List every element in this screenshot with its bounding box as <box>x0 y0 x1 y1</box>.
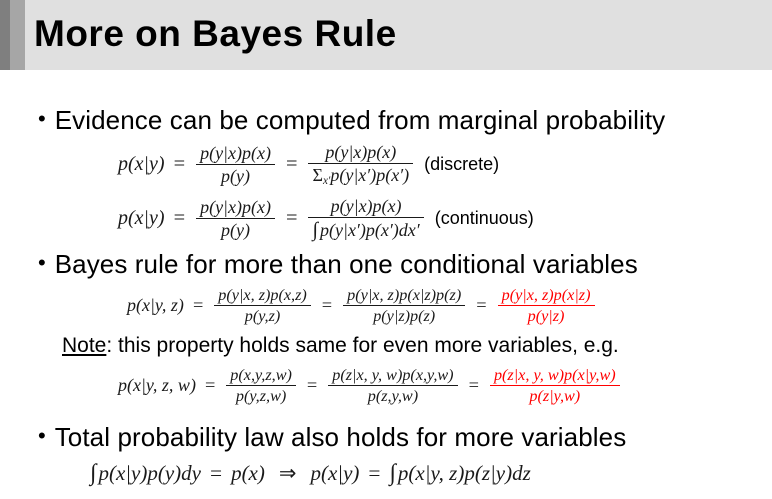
bullet-item-bayes-rule: • Bayes rule for more than one condition… <box>38 249 638 279</box>
bullet-label: Evidence can be computed from marginal p… <box>55 105 666 135</box>
note-label: Note <box>62 334 106 357</box>
eq1-frac2-den-rest: p(y|x′)p(x′) <box>330 165 409 185</box>
eq2-tag: (continuous) <box>435 208 534 229</box>
bullet-item-total-probability: • Total probability law also holds for m… <box>38 422 626 452</box>
eq1-fraction-2: p(y|x)p(x) Σx′p(y|x′)p(x′) <box>308 142 413 188</box>
eq4-frac2-denominator: p(z,y,w) <box>328 385 457 405</box>
equation-bayes-three-conditionals: p(x|y, z, w) = p(x,y,z,w) p(y,z,w) = p(z… <box>118 366 622 405</box>
eq4-equals-3: = <box>469 375 479 396</box>
eq2-frac1-denominator: p(y) <box>196 218 275 240</box>
eq2-frac2-numerator: p(y|x)p(x) <box>327 196 406 217</box>
equation-bayes-two-conditionals: p(x|y, z) = p(y|x, z)p(x,z) p(y,z) = p(y… <box>127 286 597 325</box>
eq5-part-3: p(x|y) <box>310 461 359 486</box>
eq4-frac1-numerator: p(x,y,z,w) <box>226 366 296 385</box>
eq5-part-4: p(x|y, z)p(z|y)dz <box>398 461 531 486</box>
eq4-fraction-2: p(z|x, y, w)p(x,y,w) p(z,y,w) <box>328 366 457 405</box>
eq3-fraction-3-highlighted: p(y|x, z)p(x|z) p(y|z) <box>498 286 595 325</box>
eq3-fraction-2: p(y|x, z)p(x|z)p(z) p(y|z)p(z) <box>343 286 465 325</box>
bullet-item-evidence: • Evidence can be computed from marginal… <box>38 105 665 135</box>
bullet-label: Total probability law also holds for mor… <box>55 422 627 452</box>
bullet-label: Bayes rule for more than one conditional… <box>55 249 638 279</box>
eq1-frac2-denominator: Σx′p(y|x′)p(x′) <box>308 163 413 188</box>
eq3-frac1-numerator: p(y|x, z)p(x,z) <box>214 286 311 305</box>
eq3-fraction-1: p(y|x, z)p(x,z) p(y,z) <box>214 286 311 325</box>
eq2-fraction-1: p(y|x)p(x) p(y) <box>196 197 275 240</box>
bullet-marker-icon: • <box>38 252 46 274</box>
eq4-fraction-1: p(x,y,z,w) p(y,z,w) <box>226 366 296 405</box>
eq1-lhs: p(x|y) <box>118 153 165 176</box>
eq3-frac3-denominator: p(y|z) <box>498 305 595 325</box>
eq3-frac2-denominator: p(y|z)p(z) <box>343 305 465 325</box>
eq5-part-1: p(x|y)p(y)dy <box>98 461 201 486</box>
eq3-frac3-numerator: p(y|x, z)p(x|z) <box>498 286 595 305</box>
equation-bayes-continuous: p(x|y) = p(y|x)p(x) p(y) = p(y|x)p(x) ∫p… <box>118 196 534 242</box>
eq4-equals: = <box>205 375 215 396</box>
eq3-equals-2: = <box>322 295 332 316</box>
eq5-equals: = <box>210 461 222 486</box>
eq3-frac1-denominator: p(y,z) <box>214 305 311 325</box>
equation-bayes-discrete: p(x|y) = p(y|x)p(x) p(y) = p(y|x)p(x) Σx… <box>118 142 499 188</box>
bullet-marker-icon: • <box>38 108 46 130</box>
eq2-frac2-denominator: ∫p(y|x′)p(x′)dx′ <box>308 217 423 242</box>
eq4-frac3-denominator: p(z|y,w) <box>490 385 620 405</box>
eq4-equals-2: = <box>307 375 317 396</box>
eq1-equals-2: = <box>286 153 298 176</box>
eq2-frac1-numerator: p(y|x)p(x) <box>196 197 275 218</box>
eq2-fraction-2: p(y|x)p(x) ∫p(y|x′)p(x′)dx′ <box>308 196 423 242</box>
note-line: Note: this property holds same for even … <box>62 334 619 358</box>
eq2-equals: = <box>174 207 186 230</box>
eq4-lhs: p(x|y, z, w) <box>118 375 196 396</box>
eq3-lhs: p(x|y, z) <box>127 295 184 316</box>
eq2-lhs: p(x|y) <box>118 207 165 230</box>
eq3-frac2-numerator: p(y|x, z)p(x|z)p(z) <box>343 286 465 305</box>
eq1-tag: (discrete) <box>424 154 499 175</box>
eq4-fraction-3-highlighted: p(z|x, y, w)p(x|y,w) p(z|y,w) <box>490 366 620 405</box>
eq1-equals: = <box>174 153 186 176</box>
eq1-frac1-denominator: p(y) <box>196 164 275 186</box>
eq5-equals-2: = <box>368 461 380 486</box>
bullet-marker-icon: • <box>38 425 46 447</box>
eq3-equals-3: = <box>476 295 486 316</box>
integral-icon: ∫ <box>312 219 320 241</box>
eq4-frac2-numerator: p(z|x, y, w)p(x,y,w) <box>328 366 457 385</box>
slide-title-band: More on Bayes Rule <box>0 0 772 70</box>
equation-total-probability: ∫ p(x|y)p(y)dy = p(x) ⇒ p(x|y) = ∫ p(x|y… <box>90 460 531 487</box>
implies-icon: ⇒ <box>279 461 297 486</box>
eq1-frac2-numerator: p(y|x)p(x) <box>321 142 400 163</box>
eq5-part-2: p(x) <box>231 461 265 486</box>
eq4-frac3-numerator: p(z|x, y, w)p(x|y,w) <box>490 366 620 385</box>
note-text: : this property holds same for even more… <box>106 334 618 357</box>
eq2-frac2-den-rest: p(y|x′)p(x′)dx′ <box>320 220 420 240</box>
accent-bar-light <box>10 0 25 70</box>
eq1-fraction-1: p(y|x)p(x) p(y) <box>196 143 275 186</box>
eq2-equals-2: = <box>286 207 298 230</box>
eq1-frac1-numerator: p(y|x)p(x) <box>196 143 275 164</box>
page-title: More on Bayes Rule <box>34 9 397 59</box>
accent-bar-dark <box>0 0 10 70</box>
slide-body: • Evidence can be computed from marginal… <box>0 70 772 499</box>
eq3-equals: = <box>193 295 203 316</box>
sigma-icon: Σ <box>312 165 322 185</box>
integral-icon-2: ∫ <box>389 460 397 487</box>
eq4-frac1-denominator: p(y,z,w) <box>226 385 296 405</box>
